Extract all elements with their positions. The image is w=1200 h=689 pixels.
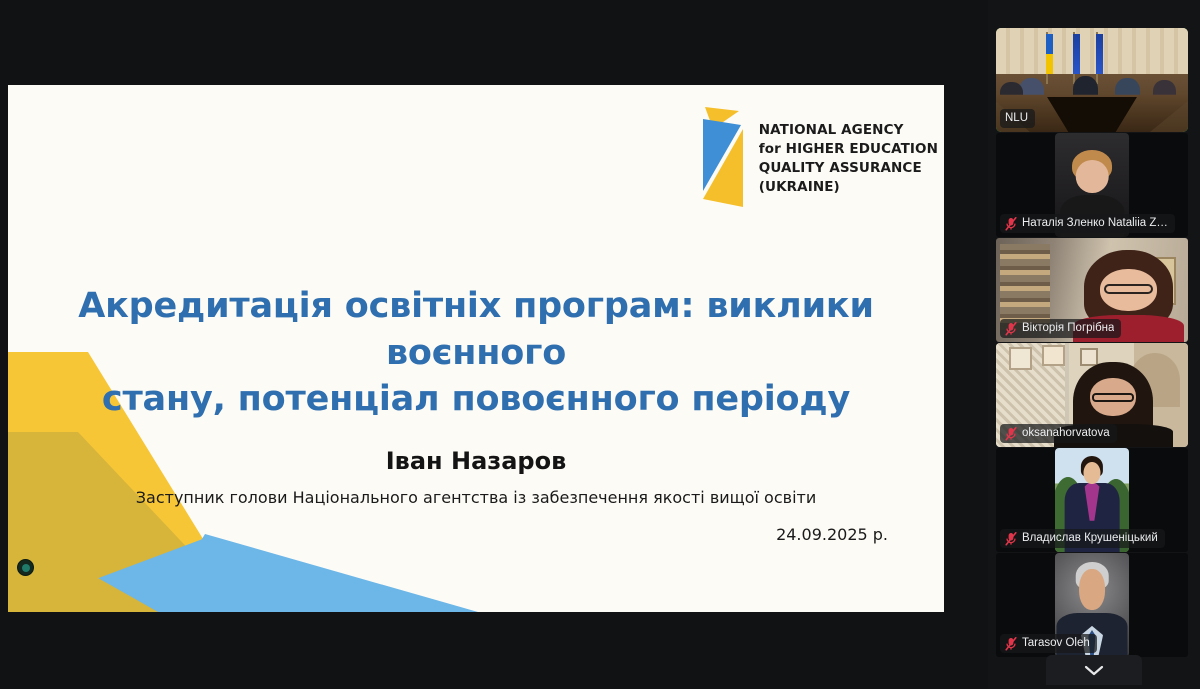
participant-namebar: oksanahorvatova (1000, 424, 1117, 443)
slide-title-line-2: стану, потенціал повоєнного періоду (42, 376, 910, 423)
participant-namebar: Tarasov Oleh (1000, 634, 1097, 653)
shared-screen-stage: NATIONAL AGENCY for HIGHER EDUCATION QUA… (0, 0, 952, 689)
filmstrip-scroll-down-button[interactable] (1046, 655, 1142, 685)
logo-line-3: QUALITY ASSURANCE (759, 159, 938, 178)
participant-name: Tarasov Oleh (1022, 636, 1090, 651)
agency-mark-icon (691, 103, 747, 215)
microphone-muted-icon (1005, 217, 1017, 231)
microphone-muted-icon (1005, 322, 1017, 336)
slide-title-line-1: Акредитація освітніх програм: виклики во… (42, 283, 910, 376)
participant-tile[interactable]: Владислав Крушеніцький (996, 448, 1188, 552)
participant-namebar: Наталія Зленко Nataliia Z… (1000, 214, 1175, 233)
chevron-down-icon (1083, 663, 1105, 677)
participant-tile[interactable]: Наталія Зленко Nataliia Z… (996, 133, 1188, 237)
participant-tile[interactable]: Tarasov Oleh (996, 553, 1188, 657)
participant-name: Наталія Зленко Nataliia Z… (1022, 216, 1168, 231)
participant-name: Владислав Крушеніцький (1022, 531, 1158, 546)
participant-tile[interactable]: oksanahorvatova (996, 343, 1188, 447)
logo-block: NATIONAL AGENCY for HIGHER EDUCATION QUA… (691, 103, 938, 215)
participant-namebar: NLU (1000, 109, 1035, 128)
participant-name: oksanahorvatova (1022, 426, 1110, 441)
green-dot-badge-icon (17, 559, 34, 576)
participant-name: Вікторія Погрібна (1022, 321, 1114, 336)
logo-text: NATIONAL AGENCY for HIGHER EDUCATION QUA… (759, 121, 938, 198)
logo-line-2: for HIGHER EDUCATION (759, 140, 938, 159)
presenter-role: Заступник голови Національного агентства… (42, 488, 910, 507)
participant-name: NLU (1005, 111, 1028, 126)
participant-tile[interactable]: NLU (996, 28, 1188, 132)
meeting-screen-share-window: NATIONAL AGENCY for HIGHER EDUCATION QUA… (0, 0, 1200, 689)
logo-line-4: (UKRAINE) (759, 178, 938, 197)
participant-namebar: Владислав Крушеніцький (1000, 529, 1165, 548)
presenter-name: Іван Назаров (42, 447, 910, 475)
participant-filmstrip[interactable]: NLUНаталія Зленко Nataliia Z…Вікторія По… (988, 0, 1200, 689)
participant-namebar: Вікторія Погрібна (1000, 319, 1121, 338)
participant-tile[interactable]: Вікторія Погрібна (996, 238, 1188, 342)
microphone-muted-icon (1005, 532, 1017, 546)
presentation-slide: NATIONAL AGENCY for HIGHER EDUCATION QUA… (8, 85, 944, 612)
microphone-muted-icon (1005, 637, 1017, 651)
slide-date: 24.09.2025 р. (776, 525, 888, 544)
slide-title: Акредитація освітніх програм: виклики во… (42, 283, 910, 423)
logo-line-1: NATIONAL AGENCY (759, 121, 938, 140)
microphone-muted-icon (1005, 427, 1017, 441)
